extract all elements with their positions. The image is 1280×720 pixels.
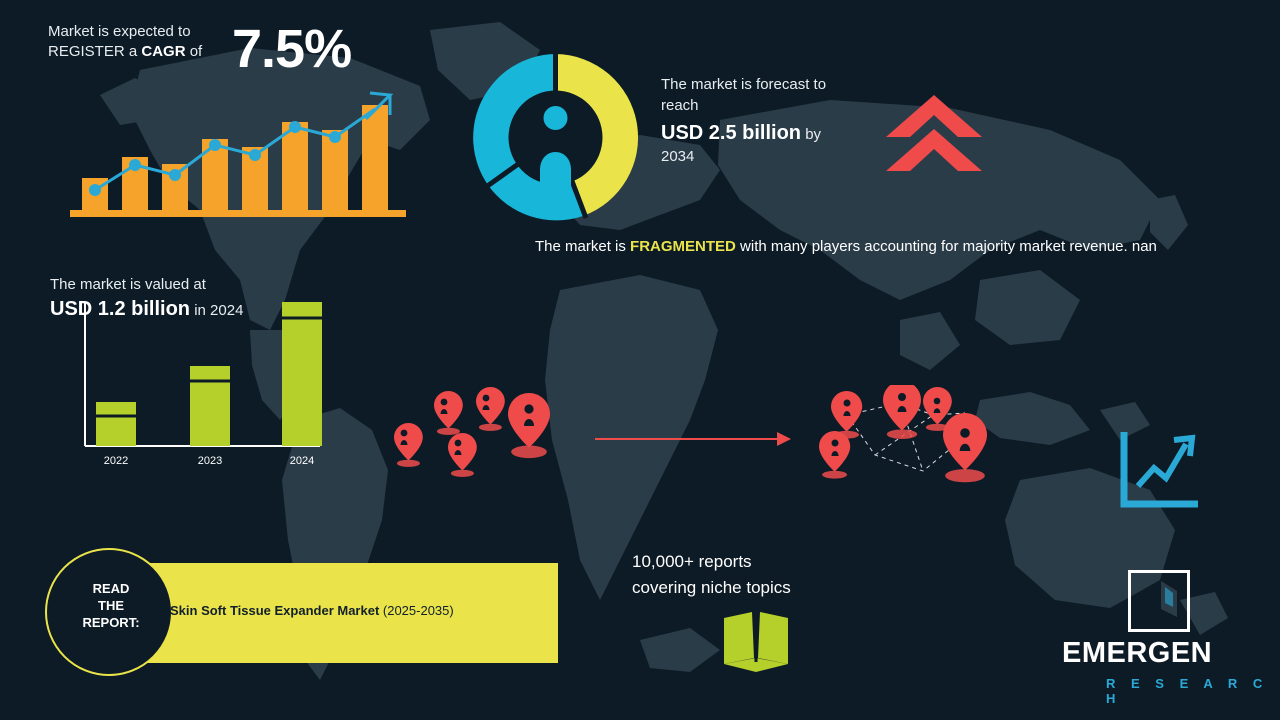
report-title: Skin Soft Tissue Expander Market (2025-2… (170, 603, 454, 618)
reports-count-line2: covering niche topics (632, 575, 952, 601)
forecast-line1: The market is forecast to (661, 74, 921, 95)
green-chart-tick-2024: 2024 (290, 455, 314, 467)
logo-subtitle: R E S E A R C H (1106, 676, 1280, 706)
infographic-canvas: Market is expected to REGISTER a CAGR of… (0, 0, 1280, 720)
cagr-line2-pre: REGISTER a (48, 43, 141, 60)
green-chart-tick-2023: 2023 (198, 455, 222, 467)
report-title-years: (2025-2035) (383, 603, 454, 618)
forecast-text-block: The market is forecast to reach USD 2.5 … (661, 74, 921, 167)
cagr-line2-post: of (186, 43, 203, 60)
fragmented-post: with many players accounting for majorit… (736, 238, 1157, 255)
logo-mark (1128, 570, 1190, 632)
growth-chart-arrow-icon (1120, 428, 1205, 508)
location-pin-cluster-left (380, 385, 570, 500)
fragmented-statement: The market is FRAGMENTED with many playe… (535, 236, 1215, 258)
cagr-keyword: CAGR (141, 43, 185, 60)
market-share-donut (468, 50, 643, 225)
forecast-by: by (801, 126, 821, 143)
reports-count-text: 10,000+ reports covering niche topics (632, 549, 952, 601)
right-arrow-icon (595, 428, 795, 450)
read-report-line3: REPORT: (47, 614, 175, 631)
cagr-line1: Market is expected to (48, 23, 191, 40)
open-book-icon (722, 612, 790, 672)
reports-count-line1: 10,000+ reports (632, 549, 952, 575)
green-chart-tick-2022: 2022 (104, 455, 128, 467)
report-title-text: Skin Soft Tissue Expander Market (170, 603, 383, 618)
valued-small: The market is valued at (50, 274, 380, 295)
forecast-line2: reach (661, 95, 921, 116)
read-report-circle[interactable]: READ THE REPORT: (45, 548, 173, 676)
forecast-year: 2034 (661, 146, 921, 167)
fragmented-pre: The market is (535, 238, 630, 255)
market-value-bar-chart: 2022 2023 2024 (80, 296, 330, 476)
double-up-arrow-icon (884, 95, 984, 175)
cagr-value: 7.5% (232, 22, 351, 76)
fragmented-highlight: FRAGMENTED (630, 238, 736, 255)
read-report-line2: THE (47, 597, 175, 614)
growth-bar-line-chart (70, 85, 420, 220)
location-pin-cluster-right (805, 385, 1005, 500)
forecast-value: USD 2.5 billion (661, 122, 801, 144)
read-report-line1: READ (47, 580, 175, 597)
logo-name: EMERGEN (1062, 637, 1212, 670)
